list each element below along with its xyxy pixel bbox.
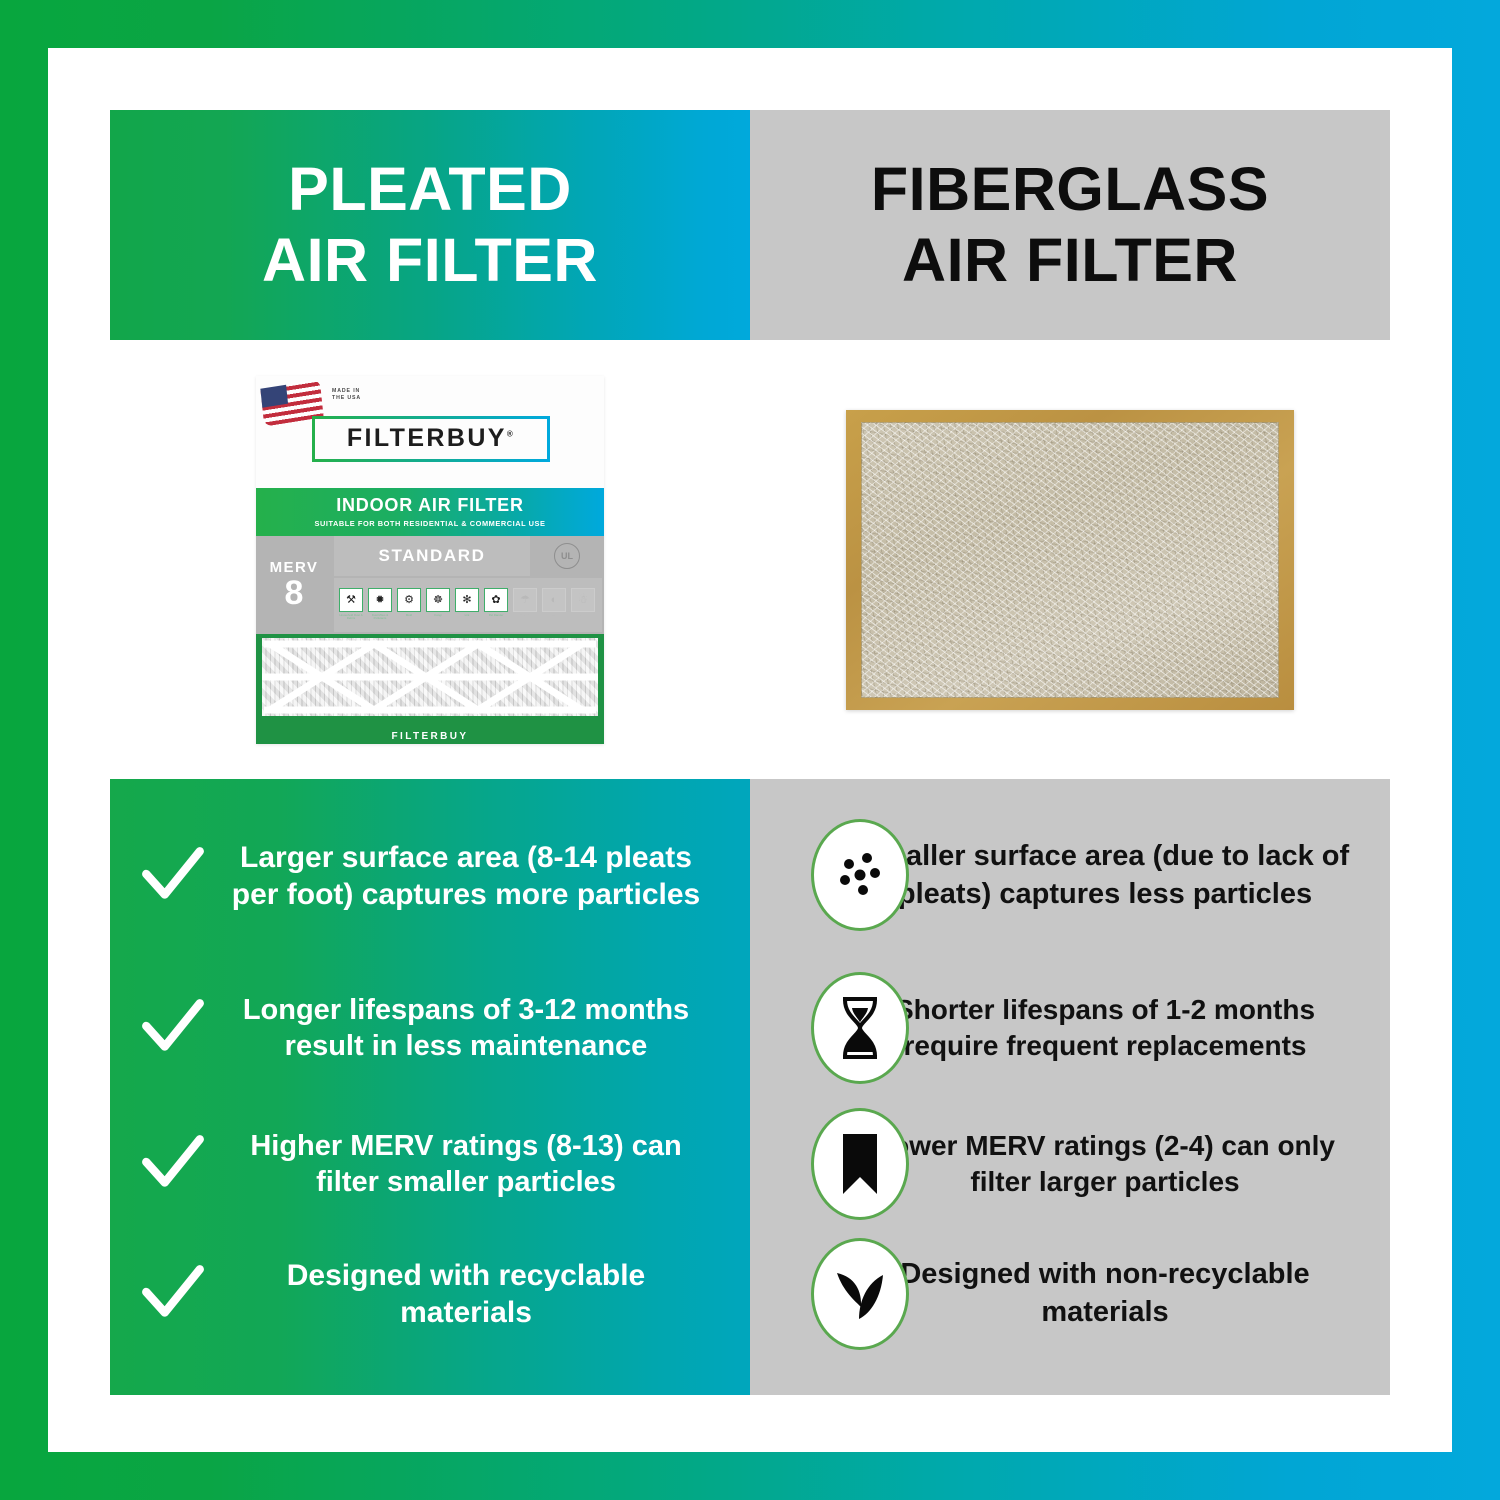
capture-icon-caption: Smoke: [521, 614, 530, 617]
comparison-row-recyclable: Designed with recyclable materials Desig…: [110, 1234, 1390, 1354]
pleated-media-area: FILTERBUY: [256, 634, 604, 744]
pleat-support-grid-icon: [262, 638, 598, 716]
comparison-rows: Larger surface area (8-14 pleats per foo…: [110, 779, 1390, 1395]
ul-certification: UL: [532, 536, 602, 576]
capture-icon-caption: Bacteria: [549, 614, 560, 617]
capture-icon-caption: Dust Mites & Pollutants: [367, 614, 393, 620]
capture-icon-glyph: ✹: [368, 588, 392, 612]
package-band-subtitle: SUITABLE FOR BOTH RESIDENTIAL & COMMERCI…: [314, 519, 545, 528]
badge-inner: [817, 1244, 903, 1344]
row-right-text: Designed with non-recyclable materials: [860, 1256, 1350, 1331]
capture-icon-mold: ⚙Mold: [396, 588, 422, 622]
hourglass-icon: [831, 994, 889, 1062]
merv-value: 8: [285, 576, 304, 610]
capture-icon-pet-dander: ✿Pet Dander: [483, 588, 509, 622]
capture-icon-glyph: ◐: [542, 588, 566, 612]
capture-icon-caption: Lint: [465, 614, 470, 617]
capture-icon-bacteria: ◐Bacteria: [541, 588, 567, 622]
comparison-row-merv-rating: Higher MERV ratings (8-13) can filter sm…: [110, 1104, 1390, 1224]
row-right-text: Lower MERV ratings (2-4) can only filter…: [860, 1128, 1350, 1201]
bookmark-icon: [837, 1131, 883, 1197]
package-footer-brand: FILTERBUY: [256, 731, 604, 742]
comparison-section: Larger surface area (8-14 pleats per foo…: [110, 779, 1390, 1395]
capture-icon-caption: Fungi: [434, 614, 441, 617]
brand-name: FILTERBUY®: [347, 424, 515, 453]
capture-icon-glyph: ⚒: [339, 588, 363, 612]
row-left-text: Larger surface area (8-14 pleats per foo…: [222, 839, 710, 914]
badge-inner: [817, 825, 903, 925]
capture-icon-glyph: ☸: [426, 588, 450, 612]
checkmark-icon: [140, 843, 206, 909]
header-fiberglass-line1: FIBERGLASS: [871, 155, 1269, 223]
capture-icon-glyph: ✿: [484, 588, 508, 612]
badge-inner: [817, 1114, 903, 1214]
package-green-band: INDOOR AIR FILTER SUITABLE FOR BOTH RESI…: [256, 488, 604, 536]
package-band-title: INDOOR AIR FILTER: [336, 495, 524, 516]
capture-icon-strip: ⚒Household Dust & Debris ✹Dust Mites & P…: [334, 578, 602, 632]
checkmark-icon: [140, 995, 206, 1061]
made-in-usa-text: MADE IN THE USA: [332, 388, 361, 404]
row-left-text: Longer lifespans of 3-12 months result i…: [222, 992, 710, 1065]
row-left-cell: Longer lifespans of 3-12 months result i…: [110, 992, 750, 1065]
row-left-cell: Larger surface area (8-14 pleats per foo…: [110, 839, 750, 914]
package-grade-label: STANDARD: [334, 536, 530, 576]
header-row: PLEATED AIR FILTER FIBERGLASS AIR FILTER: [110, 110, 1390, 340]
fiberglass-filter-image: [846, 410, 1294, 710]
header-pleated-line1: PLEATED: [288, 155, 572, 223]
capture-icon-glyph: ☂: [513, 588, 537, 612]
particles-badge: [811, 819, 909, 931]
header-pleated: PLEATED AIR FILTER: [110, 110, 750, 340]
row-left-text: Higher MERV ratings (8-13) can filter sm…: [222, 1128, 710, 1201]
capture-icon-fungi: ☸Fungi: [425, 588, 451, 622]
trademark-symbol: ®: [507, 430, 515, 439]
row-left-cell: Higher MERV ratings (8-13) can filter sm…: [110, 1128, 750, 1201]
capture-icon-glyph: ☃: [571, 588, 595, 612]
merv-badge: MERV 8: [256, 536, 332, 634]
badge-inner: [817, 978, 903, 1078]
brand-logo-box: FILTERBUY®: [312, 416, 550, 462]
package-gray-band: MERV 8 STANDARD UL ⚒Household Dust & Deb…: [256, 536, 604, 634]
pleated-media-texture: [262, 638, 598, 716]
checkmark-icon: [140, 1261, 206, 1327]
header-pleated-title: PLEATED AIR FILTER: [262, 154, 598, 296]
made-in-line2: THE USA: [332, 395, 361, 403]
capture-icon-glyph: ⚙: [397, 588, 421, 612]
capture-icon-caption: Pet Dander: [489, 614, 504, 617]
capture-icon-virus: ☃Virus: [570, 588, 596, 622]
header-fiberglass: FIBERGLASS AIR FILTER: [750, 110, 1390, 340]
product-image-band: MADE IN THE USA FILTERBUY® INDOOR AIR FI…: [110, 340, 1390, 779]
row-left-cell: Designed with recyclable materials: [110, 1257, 750, 1332]
row-right-text: Shorter lifespans of 1-2 months require …: [860, 992, 1350, 1065]
capture-icon-caption: Household Dust & Debris: [338, 614, 364, 620]
particles-icon: [827, 842, 893, 908]
fiberglass-product-cell: [750, 340, 1390, 779]
comparison-row-surface-area: Larger surface area (8-14 pleats per foo…: [110, 801, 1390, 951]
hourglass-badge: [811, 972, 909, 1084]
capture-icon-dust-mites: ✹Dust Mites & Pollutants: [367, 588, 393, 622]
leaf-badge: [811, 1238, 909, 1350]
capture-icon-lint: ✻Lint: [454, 588, 480, 622]
pleated-filter-package: MADE IN THE USA FILTERBUY® INDOOR AIR FI…: [256, 376, 604, 744]
header-fiberglass-line2: AIR FILTER: [902, 226, 1238, 294]
checkmark-icon: [140, 1131, 206, 1197]
capture-icon-caption: Mold: [406, 614, 412, 617]
capture-icon-household-dust: ⚒Household Dust & Debris: [338, 588, 364, 622]
capture-icon-glyph: ✻: [455, 588, 479, 612]
leaf-icon: [829, 1263, 891, 1325]
brand-name-text: FILTERBUY: [347, 424, 507, 452]
ul-certification-icon: UL: [554, 543, 580, 569]
header-fiberglass-title: FIBERGLASS AIR FILTER: [871, 154, 1269, 296]
infographic-page: PLEATED AIR FILTER FIBERGLASS AIR FILTER…: [0, 0, 1500, 1500]
made-in-line1: MADE IN: [332, 388, 361, 396]
row-right-text: Smaller surface area (due to lack of ple…: [860, 838, 1350, 913]
bookmark-badge: [811, 1108, 909, 1220]
pleated-product-cell: MADE IN THE USA FILTERBUY® INDOOR AIR FI…: [110, 340, 750, 779]
row-left-text: Designed with recyclable materials: [222, 1257, 710, 1332]
comparison-row-lifespan: Longer lifespans of 3-12 months result i…: [110, 964, 1390, 1092]
header-pleated-line2: AIR FILTER: [262, 226, 598, 294]
capture-icon-smoke: ☂Smoke: [512, 588, 538, 622]
capture-icon-caption: Virus: [580, 614, 587, 617]
